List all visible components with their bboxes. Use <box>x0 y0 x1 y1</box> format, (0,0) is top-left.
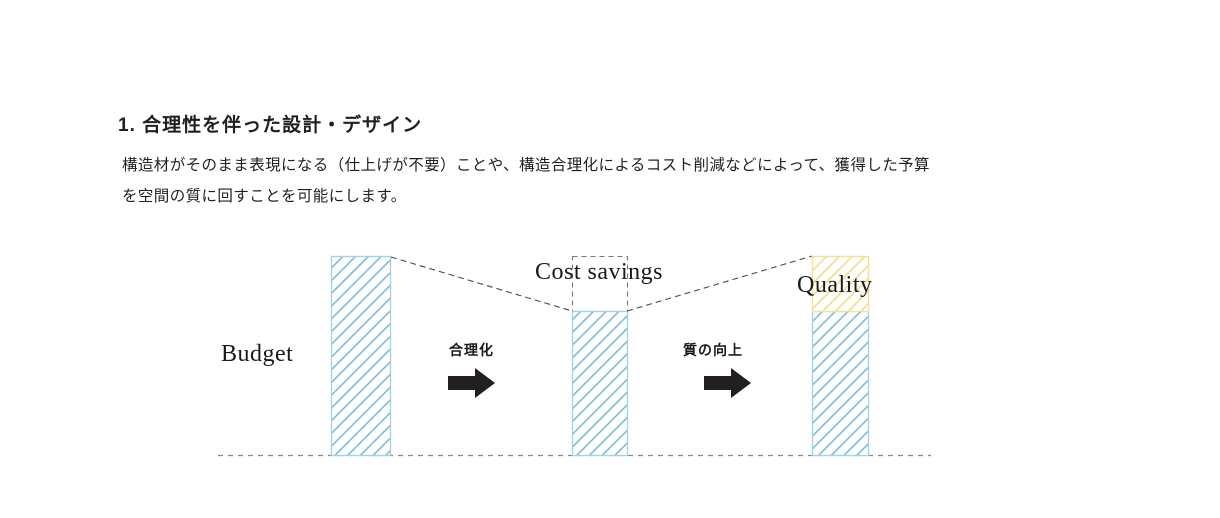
body-line-1: 構造材がそのまま表現になる（仕上げが不要）ことや、構造合理化によるコスト削減など… <box>122 150 1042 181</box>
body-line-2: を空間の質に回すことを可能にします。 <box>122 181 1042 212</box>
bar-quality-base <box>813 312 869 456</box>
label-step-rationalization: 合理化 <box>449 340 494 360</box>
bar-budget <box>332 257 391 456</box>
arrow-right-icon-1 <box>447 366 497 405</box>
page-root: 1. 合理性を伴った設計・デザイン 構造材がそのまま表現になる（仕上げが不要）こ… <box>0 0 1220 518</box>
body-paragraph: 構造材がそのまま表現になる（仕上げが不要）ことや、構造合理化によるコスト削減など… <box>122 150 1042 212</box>
label-cost-savings: Cost savings <box>535 259 663 286</box>
bar-reduced-budget <box>573 312 628 456</box>
page-title: 1. 合理性を伴った設計・デザイン <box>118 110 422 137</box>
arrow-right-icon-2 <box>703 366 753 405</box>
label-budget: Budget <box>221 341 293 368</box>
label-step-quality-uplift: 質の向上 <box>683 340 743 360</box>
label-quality: Quality <box>797 272 873 299</box>
